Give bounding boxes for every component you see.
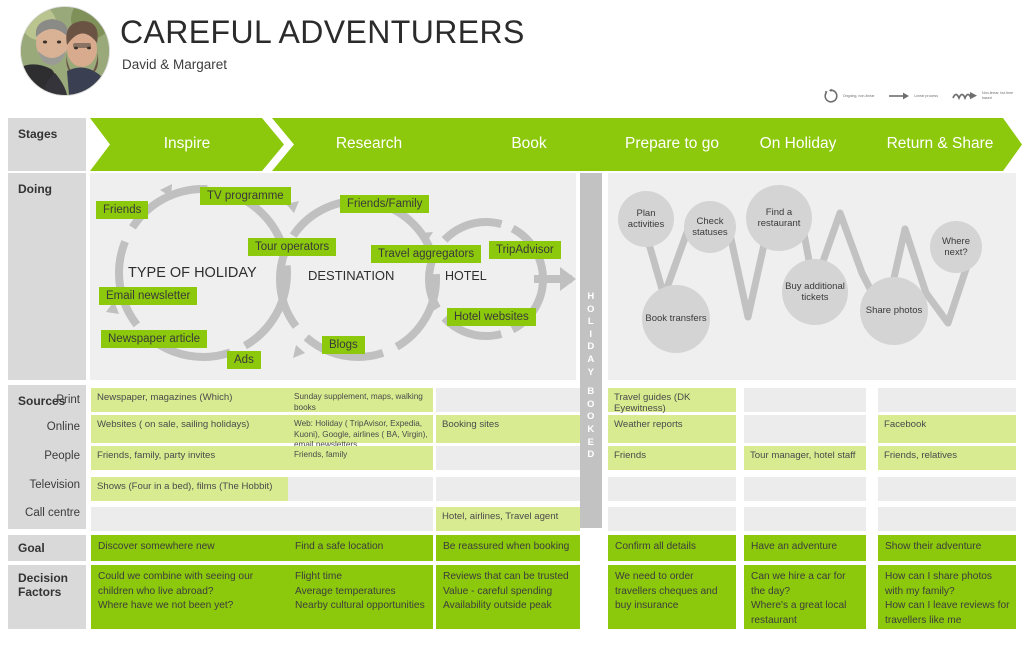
goal-cell-text: Discover somewhere new [98, 540, 284, 555]
row-label-goal-text: Goal [18, 541, 45, 555]
source-cell-online-book[interactable]: Booking sites [436, 415, 580, 443]
tag-ads[interactable]: Ads [227, 351, 261, 369]
source-cell-people-inspire[interactable]: Friends, family, party invites [91, 446, 289, 470]
row-label-stages-text: Stages [18, 127, 57, 141]
holiday-booked-text: HOLIDAY BOOKED HOLIDAY BOOKED [580, 291, 602, 462]
header: CAREFUL ADVENTURERS David & Margaret Ong… [0, 0, 1024, 118]
goal-cell-return-share[interactable]: Show their adventure [878, 535, 1016, 561]
tag-tour-operators[interactable]: Tour operators [248, 238, 336, 256]
source-cell-call-centre-research[interactable] [288, 507, 433, 531]
wave-arrow-icon [952, 89, 978, 103]
stage-label-on-holiday: On Holiday [760, 136, 837, 153]
row-label-doing-text: Doing [18, 182, 52, 196]
goal-cell-text: Be reassured when booking [443, 540, 575, 555]
row-label-doing: Doing [8, 173, 86, 380]
row-label-decision-factors: Decision Factors [8, 565, 86, 629]
decision-cell-text: We need to order travellers cheques and … [615, 570, 731, 614]
source-cell-text: Weather reports [614, 420, 732, 431]
stage-chevron-book[interactable]: Book [432, 118, 626, 171]
tag-travel-aggregators[interactable]: Travel aggregators [371, 245, 481, 263]
source-cell-call-centre-inspire[interactable] [91, 507, 289, 531]
holiday-booked-divider: HOLIDAY BOOKED HOLIDAY BOOKED [580, 173, 602, 528]
decision-cell-inspire[interactable]: Could we combine with seeing our childre… [91, 565, 289, 629]
goal-cell-text: Have an adventure [751, 540, 861, 555]
legend-label-ongoing: Ongoing, non-linear [843, 94, 875, 99]
source-cell-text: Tour manager, hotel staff [750, 451, 862, 462]
source-cell-call-centre-on-holiday[interactable] [744, 507, 866, 531]
stage-chevron-inspire[interactable]: Inspire [90, 118, 284, 171]
source-cell-text: Friends, relatives [884, 451, 1012, 462]
source-cell-people-return-share[interactable]: Friends, relatives [878, 446, 1016, 470]
source-cell-call-centre-prepare[interactable] [608, 507, 736, 531]
decision-cell-text: Could we combine with seeing our childre… [98, 570, 284, 614]
cycle-label-destination: DESTINATION [308, 268, 394, 283]
source-cell-television-on-holiday[interactable] [744, 477, 866, 501]
stage-label-prepare: Prepare to go [625, 136, 719, 153]
doing-panel-right: Plan activities Check statuses Find a re… [608, 173, 1016, 380]
stage-label-inspire: Inspire [164, 136, 211, 153]
legend-label-linear: Linear process [914, 94, 938, 99]
source-cell-people-prepare[interactable]: Friends [608, 446, 736, 470]
tag-friends-family[interactable]: Friends/Family [340, 195, 429, 213]
sources-subrow-people: People [44, 450, 80, 462]
node-share-photos[interactable]: Share photos [860, 277, 928, 345]
source-cell-text: Friends, family, party invites [97, 451, 285, 462]
goal-cell-research[interactable]: Find a safe location [288, 535, 433, 561]
goal-cell-inspire[interactable]: Discover somewhere new [91, 535, 289, 561]
source-cell-television-prepare[interactable] [608, 477, 736, 501]
persona-names: David & Margaret [122, 57, 227, 72]
source-cell-text: Booking sites [442, 420, 576, 431]
page-title: CAREFUL ADVENTURERS [120, 14, 525, 51]
source-cell-text: Travel guides (DK Eyewitness) [614, 393, 732, 414]
source-cell-television-book[interactable] [436, 477, 580, 501]
source-cell-television-research[interactable] [288, 477, 433, 501]
decision-cell-text: Flight time Average temperatures Nearby … [295, 570, 428, 614]
goal-cell-book[interactable]: Be reassured when booking [436, 535, 580, 561]
stage-chevron-return-share[interactable]: Return & Share [852, 118, 1022, 171]
row-label-sources: Sources Print Online People Television C… [8, 385, 86, 529]
node-plan-activities[interactable]: Plan activities [618, 191, 674, 247]
source-cell-text: Newspaper, magazines (Which) [97, 393, 285, 404]
stage-label-return-share: Return & Share [887, 136, 994, 153]
goal-cell-text: Find a safe location [295, 540, 428, 555]
node-where-next[interactable]: Where next? [930, 221, 982, 273]
tag-email-newsletter[interactable]: Email newsletter [99, 287, 197, 305]
linear-arrow-icon [888, 90, 910, 102]
goal-cell-text: Confirm all details [615, 540, 731, 555]
doing-panel-left: TYPE OF HOLIDAY DESTINATION HOTEL Friend… [90, 173, 576, 380]
source-cell-print-return-share[interactable] [878, 388, 1016, 412]
tag-tripadvisor[interactable]: TripAdvisor [489, 241, 561, 259]
tag-friends[interactable]: Friends [96, 201, 148, 219]
cycle-label-type-of-holiday: TYPE OF HOLIDAY [128, 265, 257, 281]
source-cell-television-inspire[interactable]: Shows (Four in a bed), films (The Hobbit… [91, 477, 289, 501]
goal-cell-text: Show their adventure [885, 540, 1011, 555]
decision-cell-text: How can I share photos with my family? H… [885, 570, 1011, 628]
decision-cell-return-share[interactable]: How can I share photos with my family? H… [878, 565, 1016, 629]
decision-cell-prepare[interactable]: We need to order travellers cheques and … [608, 565, 736, 629]
sources-subrow-online: Online [47, 421, 80, 433]
source-cell-people-book[interactable] [436, 446, 580, 470]
decision-cell-text: Can we hire a car for the day? Where's a… [751, 570, 861, 628]
goal-cell-prepare[interactable]: Confirm all details [608, 535, 736, 561]
source-cell-online-inspire[interactable]: Websites ( on sale, sailing holidays) [91, 415, 289, 443]
source-cell-print-research[interactable]: Sunday supplement, maps, walking books [288, 388, 433, 412]
decision-cell-text: Reviews that can be trusted Value - care… [443, 570, 575, 614]
row-label-goal: Goal [8, 535, 86, 561]
stages-row: Stages Inspire Research Book Prepare to … [0, 118, 1024, 171]
source-cell-text: Shows (Four in a bed), films (The Hobbit… [97, 482, 285, 493]
source-cell-text: Facebook [884, 420, 1012, 431]
source-cell-print-prepare[interactable]: Travel guides (DK Eyewitness) [608, 388, 736, 412]
decision-cell-book[interactable]: Reviews that can be trusted Value - care… [436, 565, 580, 629]
avatar [20, 6, 110, 96]
stage-chevron-research[interactable]: Research [272, 118, 466, 171]
cycle-label-hotel: HOTEL [445, 269, 487, 283]
stage-label-book: Book [511, 136, 546, 153]
row-label-stages: Stages [8, 118, 86, 171]
source-cell-text: Hotel, airlines, Travel agent [442, 512, 576, 523]
source-cell-text: Websites ( on sale, sailing holidays) [97, 420, 285, 431]
source-cell-television-return-share[interactable] [878, 477, 1016, 501]
sources-subrow-television: Television [30, 479, 81, 491]
source-cell-text: Friends, family [294, 450, 429, 461]
legend-item-wave: Non-linear, but time based [952, 89, 1016, 103]
source-cell-call-centre-book[interactable]: Hotel, airlines, Travel agent [436, 507, 580, 531]
decision-cell-on-holiday[interactable]: Can we hire a car for the day? Where's a… [744, 565, 866, 629]
source-cell-people-research[interactable]: Friends, family [288, 446, 433, 470]
journey-map-page: CAREFUL ADVENTURERS David & Margaret Ong… [0, 0, 1024, 651]
tag-blogs[interactable]: Blogs [322, 336, 365, 354]
source-cell-people-on-holiday[interactable]: Tour manager, hotel staff [744, 446, 866, 470]
legend: Ongoing, non-linear Linear process Non-l… [823, 88, 1016, 104]
tag-hotel-websites[interactable]: Hotel websites [447, 308, 536, 326]
source-cell-print-inspire[interactable]: Newspaper, magazines (Which) [91, 388, 289, 412]
sources-subrow-print: Print [56, 394, 80, 406]
node-buy-additional-tickets[interactable]: Buy additional tickets [782, 259, 848, 325]
legend-label-wave: Non-linear, but time based [982, 91, 1016, 101]
source-cell-call-centre-return-share[interactable] [878, 507, 1016, 531]
stage-chevron-on-holiday[interactable]: On Holiday [722, 118, 874, 171]
tag-newspaper-article[interactable]: Newspaper article [101, 330, 207, 348]
source-cell-print-book[interactable] [436, 388, 580, 412]
ongoing-cycle-icon [823, 88, 839, 104]
goal-cell-on-holiday[interactable]: Have an adventure [744, 535, 866, 561]
node-book-transfers[interactable]: Book transfers [642, 285, 710, 353]
node-check-statuses[interactable]: Check statuses [684, 201, 736, 253]
legend-item-ongoing: Ongoing, non-linear [823, 88, 875, 104]
sources-subrow-callcentre: Call centre [25, 507, 80, 519]
row-label-decision-text: Decision Factors [18, 571, 68, 599]
source-cell-online-return-share[interactable]: Facebook [878, 415, 1016, 443]
source-cell-text: Friends [614, 451, 732, 462]
legend-item-linear: Linear process [888, 90, 938, 102]
tag-tv-programme[interactable]: TV programme [200, 187, 291, 205]
stage-label-research: Research [336, 136, 402, 153]
source-cell-online-prepare[interactable]: Weather reports [608, 415, 736, 443]
node-find-a-restaurant[interactable]: Find a restaurant [746, 185, 812, 251]
source-cell-text: Sunday supplement, maps, walking books [294, 392, 429, 413]
decision-cell-research[interactable]: Flight time Average temperatures Nearby … [288, 565, 433, 629]
source-cell-online-on-holiday[interactable] [744, 415, 866, 443]
source-cell-print-on-holiday[interactable] [744, 388, 866, 412]
source-cell-online-research[interactable]: Web: Holiday ( TripAvisor, Expedia, Kuon… [288, 415, 433, 443]
